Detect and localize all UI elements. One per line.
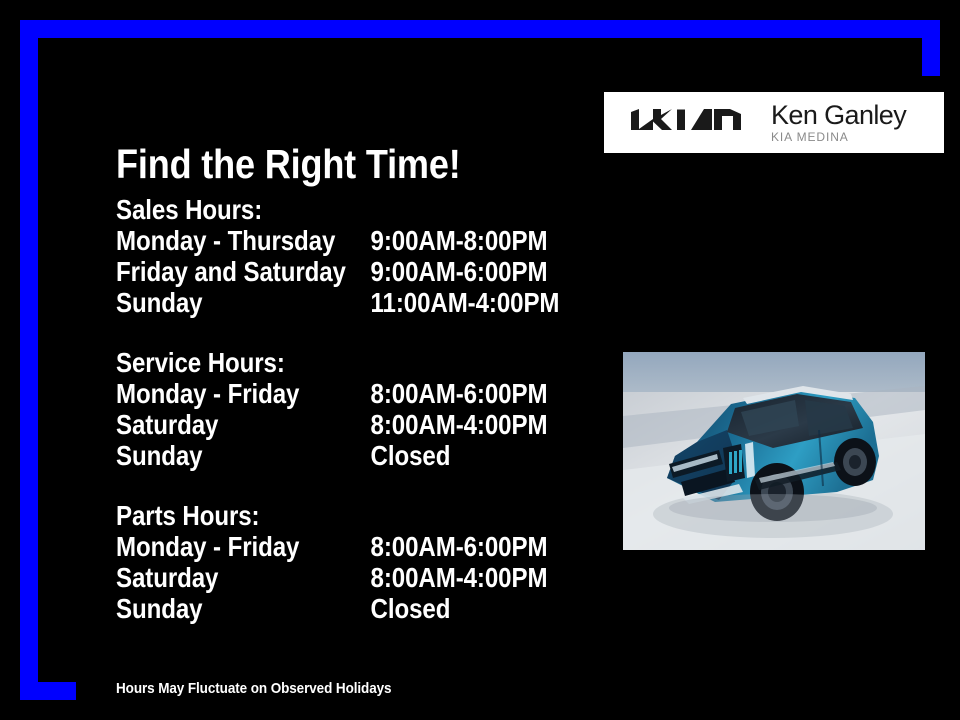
blue-border-frame: Find the Right Time! Sales Hours: Monday… — [20, 20, 940, 700]
hours-sections: Sales Hours: Monday - Thursday 9:00AM-8:… — [116, 194, 636, 624]
slide-content: Find the Right Time! Sales Hours: Monday… — [76, 76, 960, 720]
page-title: Find the Right Time! — [116, 142, 461, 186]
hours-time-value: Closed — [371, 593, 564, 624]
hours-row: Sunday 11:00AM-4:00PM — [116, 287, 563, 318]
hours-row: Monday - Friday 8:00AM-6:00PM — [116, 531, 563, 562]
hours-time-value: 8:00AM-4:00PM — [371, 562, 564, 593]
vehicle-photo — [623, 352, 925, 550]
hours-time-value: 9:00AM-8:00PM — [371, 225, 564, 256]
holiday-disclaimer: Hours May Fluctuate on Observed Holidays — [116, 680, 391, 698]
dealer-name-block: Ken Ganley KIA MEDINA — [771, 101, 906, 144]
section-heading: Sales Hours: — [116, 194, 563, 225]
hours-day-label: Monday - Friday — [116, 531, 371, 562]
section-heading: Service Hours: — [116, 347, 563, 378]
kia-ev9-illustration — [623, 352, 925, 550]
hours-row: Sunday Closed — [116, 440, 563, 471]
hours-block-service: Service Hours: Monday - Friday 8:00AM-6:… — [116, 347, 636, 471]
hours-day-label: Saturday — [116, 409, 371, 440]
slide-root: Find the Right Time! Sales Hours: Monday… — [0, 0, 960, 720]
hours-time-value: 11:00AM-4:00PM — [371, 287, 564, 318]
hours-day-label: Monday - Friday — [116, 378, 371, 409]
hours-day-label: Saturday — [116, 562, 371, 593]
hours-block-sales: Sales Hours: Monday - Thursday 9:00AM-8:… — [116, 194, 636, 318]
hours-row: Monday - Friday 8:00AM-6:00PM — [116, 378, 563, 409]
hours-row: Friday and Saturday 9:00AM-6:00PM — [116, 256, 563, 287]
hours-row: Saturday 8:00AM-4:00PM — [116, 409, 563, 440]
hours-day-label: Friday and Saturday — [116, 256, 371, 287]
hours-row: Saturday 8:00AM-4:00PM — [116, 562, 563, 593]
hours-day-label: Monday - Thursday — [116, 225, 371, 256]
hours-block-parts: Parts Hours: Monday - Friday 8:00AM-6:00… — [116, 500, 636, 624]
hours-time-value: 8:00AM-6:00PM — [371, 378, 564, 409]
hours-day-label: Sunday — [116, 287, 371, 318]
section-heading: Parts Hours: — [116, 500, 563, 531]
hours-day-label: Sunday — [116, 593, 371, 624]
kia-logo-icon — [624, 108, 742, 138]
hours-row: Monday - Thursday 9:00AM-8:00PM — [116, 225, 563, 256]
dealer-name-text: Ken Ganley — [771, 101, 906, 129]
hours-row: Sunday Closed — [116, 593, 563, 624]
hours-time-value: 8:00AM-6:00PM — [371, 531, 564, 562]
hours-time-value: 8:00AM-4:00PM — [371, 409, 564, 440]
hours-day-label: Sunday — [116, 440, 371, 471]
hours-time-value: 9:00AM-6:00PM — [371, 256, 564, 287]
dealer-logo-panel: Ken Ganley KIA MEDINA — [604, 92, 944, 153]
hours-time-value: Closed — [371, 440, 564, 471]
dealer-location-text: KIA MEDINA — [771, 130, 906, 144]
